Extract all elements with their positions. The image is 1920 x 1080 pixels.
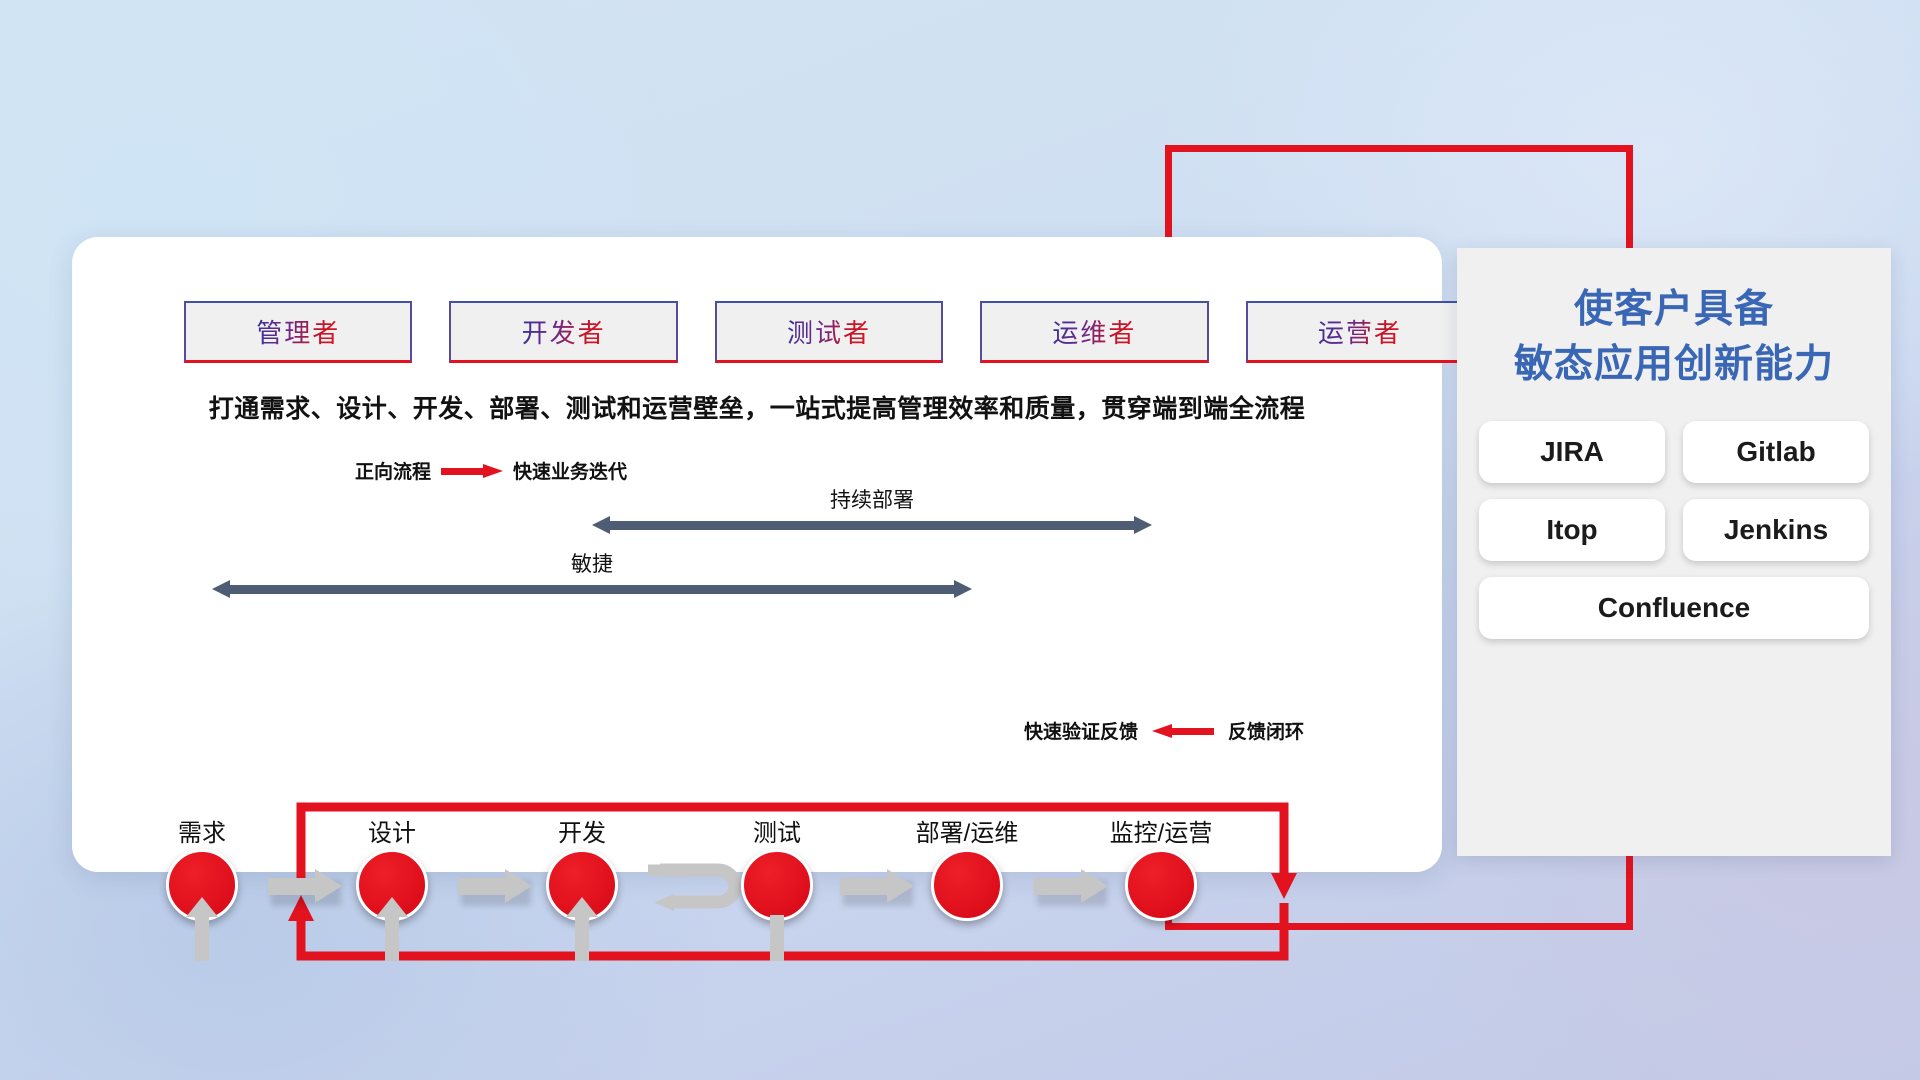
role-chip-manager[interactable]: 管理者 (184, 301, 412, 363)
legend-forward-flow: 正向流程 快速业务迭代 (355, 457, 627, 484)
tool-chip-label: Jenkins (1724, 514, 1828, 546)
pipeline-node-monitor-operations[interactable]: 监控/运营 (1086, 849, 1236, 921)
forward-arrow-icon (441, 465, 503, 477)
role-chip-developer[interactable]: 开发者 (449, 301, 677, 363)
tool-chip-confluence[interactable]: Confluence (1479, 577, 1869, 639)
legend-feedback-loop: 快速验证反馈 反馈闭环 (1024, 717, 1304, 744)
tool-chip-itop[interactable]: Itop (1479, 499, 1665, 561)
tool-chip-gitlab[interactable]: Gitlab (1683, 421, 1869, 483)
tool-chip-label: Itop (1546, 514, 1597, 546)
legend-forward-right-label: 快速业务迭代 (513, 457, 627, 484)
panel-title-line1: 使客户具备 (1457, 282, 1891, 337)
legend-forward-left-label: 正向流程 (355, 457, 431, 484)
tool-chip-jenkins[interactable]: Jenkins (1683, 499, 1869, 561)
role-chip-ops[interactable]: 运维者 (980, 301, 1208, 363)
role-chip-operations[interactable]: 运营者 (1246, 301, 1474, 363)
pipeline-node-label: 开发 (558, 813, 606, 848)
role-chip-label: 运维者 (1052, 313, 1136, 350)
card-description: 打通需求、设计、开发、部署、测试和运营壁垒，一站式提高管理效率和质量，贯穿端到端… (72, 389, 1442, 425)
arrow-shaft (606, 521, 1138, 530)
feedback-arrow-left-icon (1152, 725, 1214, 737)
devops-overview-card: 管理者 开发者 测试者 运维者 运营者 打通需求、设计、开发、部署、测试和运营壁… (72, 237, 1442, 872)
pipeline-node-dot (1125, 849, 1197, 921)
tool-chip-label: Confluence (1598, 592, 1750, 624)
span-label-continuous-deployment: 持续部署 (592, 484, 1152, 514)
pipeline-node-label: 设计 (368, 813, 416, 848)
pipeline-node-testing[interactable]: 测试 (735, 849, 819, 921)
arrow-head-right-icon (1134, 516, 1152, 534)
role-chip-label: 运营者 (1318, 313, 1402, 350)
span-arrow-agile: 敏捷 (212, 580, 972, 598)
feed-stem-design (385, 915, 399, 961)
panel-title-line2: 敏态应用创新能力 (1457, 337, 1891, 392)
span-label-agile: 敏捷 (212, 548, 972, 578)
role-chip-label: 测试者 (787, 313, 871, 350)
span-arrow-continuous-deployment: 持续部署 (592, 516, 1152, 534)
feed-stem-testing (770, 915, 784, 961)
feed-stem-requirements (195, 915, 209, 961)
role-chip-tester[interactable]: 测试者 (715, 301, 943, 363)
pipeline-arrow-1-icon (268, 869, 342, 903)
tool-chip-label: JIRA (1540, 436, 1604, 468)
role-chip-row: 管理者 开发者 测试者 运维者 运营者 (184, 301, 1474, 363)
feed-stem-head-design (376, 897, 408, 917)
legend-feedback-right-label: 反馈闭环 (1228, 717, 1304, 744)
role-chip-label: 开发者 (522, 313, 606, 350)
pipeline-node-label: 部署/运维 (916, 813, 1019, 848)
feed-stem-head-development (566, 897, 598, 917)
legend-feedback-left-label: 快速验证反馈 (1024, 717, 1138, 744)
tool-chip-jira[interactable]: JIRA (1479, 421, 1665, 483)
panel-title: 使客户具备 敏态应用创新能力 (1457, 282, 1891, 393)
value-proposition-panel: 使客户具备 敏态应用创新能力 JIRA Gitlab Itop Jenkins … (1457, 248, 1891, 856)
pipeline-node-label: 测试 (753, 813, 801, 848)
feed-stem-head-requirements (186, 897, 218, 917)
pipeline-node-dot (741, 849, 813, 921)
pipeline-node-label: 监控/运营 (1110, 813, 1213, 848)
feed-stem-development (575, 915, 589, 961)
arrow-shaft (226, 585, 958, 594)
pipeline-arrow-2-icon (458, 869, 532, 903)
pipeline-node-label: 需求 (178, 813, 226, 848)
slide-stage: 管理者 开发者 测试者 运维者 运营者 打通需求、设计、开发、部署、测试和运营壁… (0, 0, 1920, 1080)
tool-chip-grid: JIRA Gitlab Itop Jenkins Confluence (1479, 421, 1869, 639)
role-chip-label: 管理者 (256, 313, 340, 350)
arrow-head-right-icon (954, 580, 972, 598)
devops-pipeline: 需求 设计 开发 测试 (72, 849, 1442, 979)
tool-chip-label: Gitlab (1736, 436, 1815, 468)
pipeline-node-dot (931, 849, 1003, 921)
pipeline-node-deploy-ops[interactable]: 部署/运维 (892, 849, 1042, 921)
